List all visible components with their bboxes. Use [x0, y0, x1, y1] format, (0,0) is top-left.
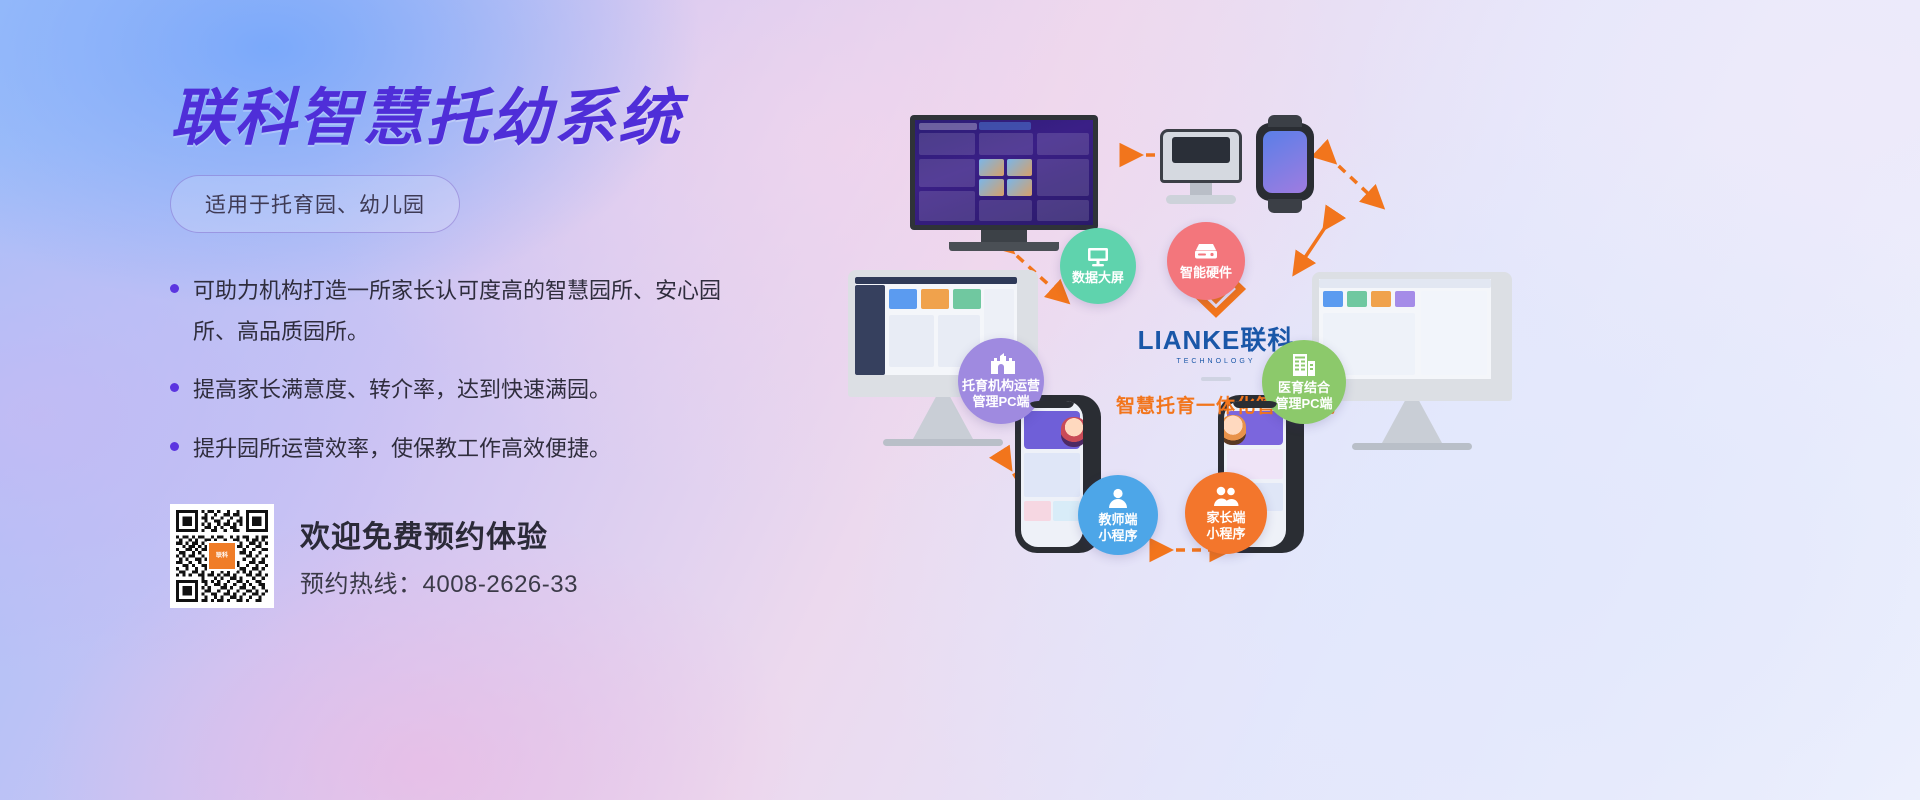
badge-label: 智能硬件 — [1180, 265, 1232, 280]
hardware-icon — [1193, 242, 1219, 262]
badge-smart-hardware[interactable]: 智能硬件 — [1167, 222, 1245, 300]
divider — [1201, 377, 1231, 381]
qr-center-logo: 联科 — [207, 541, 237, 571]
list-item: 可助力机构打造一所家长认可度高的智慧园所、安心园所、高品质园所。 — [170, 271, 870, 352]
qr-code[interactable]: 联科 — [170, 504, 274, 608]
hotline-text: 预约热线：4008-2626-33 — [300, 564, 578, 599]
badge-operation-pc[interactable]: 托育机构运营 管理PC端 — [958, 338, 1044, 424]
monitor-icon — [1086, 247, 1110, 267]
feature-bullet-list: 可助力机构打造一所家长认可度高的智慧园所、安心园所、高品质园所。 提高家长满意度… — [170, 271, 870, 470]
badge-medical-pc[interactable]: 医育结合 管理PC端 — [1262, 340, 1346, 424]
badge-label: 数据大屏 — [1072, 270, 1124, 285]
hero-text-column: 联科智慧托幼系统 适用于托育园、幼儿园 可助力机构打造一所家长认可度高的智慧园所… — [170, 86, 870, 608]
bullet-text: 提升园所运营效率，使保教工作高效便捷。 — [193, 429, 611, 470]
contact-heading: 欢迎免费预约体验 — [300, 512, 578, 556]
bullet-dot-icon — [170, 442, 179, 451]
badge-label: 家长端 小程序 — [1206, 510, 1245, 541]
teacher-icon — [1107, 487, 1129, 509]
building-castle-icon — [987, 353, 1015, 375]
page-title: 联科智慧托幼系统 — [170, 86, 870, 153]
badge-label: 医育结合 管理PC端 — [1275, 380, 1332, 411]
badge-label: 托育机构运营 管理PC端 — [962, 378, 1040, 409]
teacher-avatar — [1061, 417, 1083, 447]
badge-label: 教师端 小程序 — [1098, 512, 1137, 543]
bullet-text: 提高家长满意度、转介率，达到快速满园。 — [193, 370, 611, 411]
list-item: 提高家长满意度、转介率，达到快速满园。 — [170, 370, 870, 411]
list-item: 提升园所运营效率，使保教工作高效便捷。 — [170, 429, 870, 470]
contact-text: 欢迎免费预约体验 预约热线：4008-2626-33 — [300, 512, 578, 599]
promo-banner: 联科智慧托幼系统 适用于托育园、幼儿园 可助力机构打造一所家长认可度高的智慧园所… — [0, 0, 1920, 800]
contact-block: 联科 欢迎免费预约体验 预约热线：4008-2626-33 — [170, 504, 870, 608]
hospital-icon — [1291, 353, 1317, 377]
bullet-dot-icon — [170, 284, 179, 293]
bullet-text: 可助力机构打造一所家长认可度高的智慧园所、安心园所、高品质园所。 — [193, 271, 723, 352]
device-tv — [910, 115, 1098, 251]
parents-icon — [1213, 485, 1239, 507]
ecosystem-diagram: LIANKE联科 TECHNOLOGY 智慧托育一体化管理系统 数据大屏 智能硬… — [830, 60, 1870, 700]
badge-data-screen[interactable]: 数据大屏 — [1060, 228, 1136, 304]
device-smart-hardware-group — [1160, 115, 1350, 225]
audience-pill: 适用于托育园、幼儿园 — [170, 175, 460, 233]
badge-parent-mini[interactable]: 家长端 小程序 — [1185, 472, 1267, 554]
badge-teacher-mini[interactable]: 教师端 小程序 — [1078, 475, 1158, 555]
bullet-dot-icon — [170, 383, 179, 392]
parent-avatar — [1224, 415, 1246, 445]
device-pc-right — [1312, 272, 1512, 450]
